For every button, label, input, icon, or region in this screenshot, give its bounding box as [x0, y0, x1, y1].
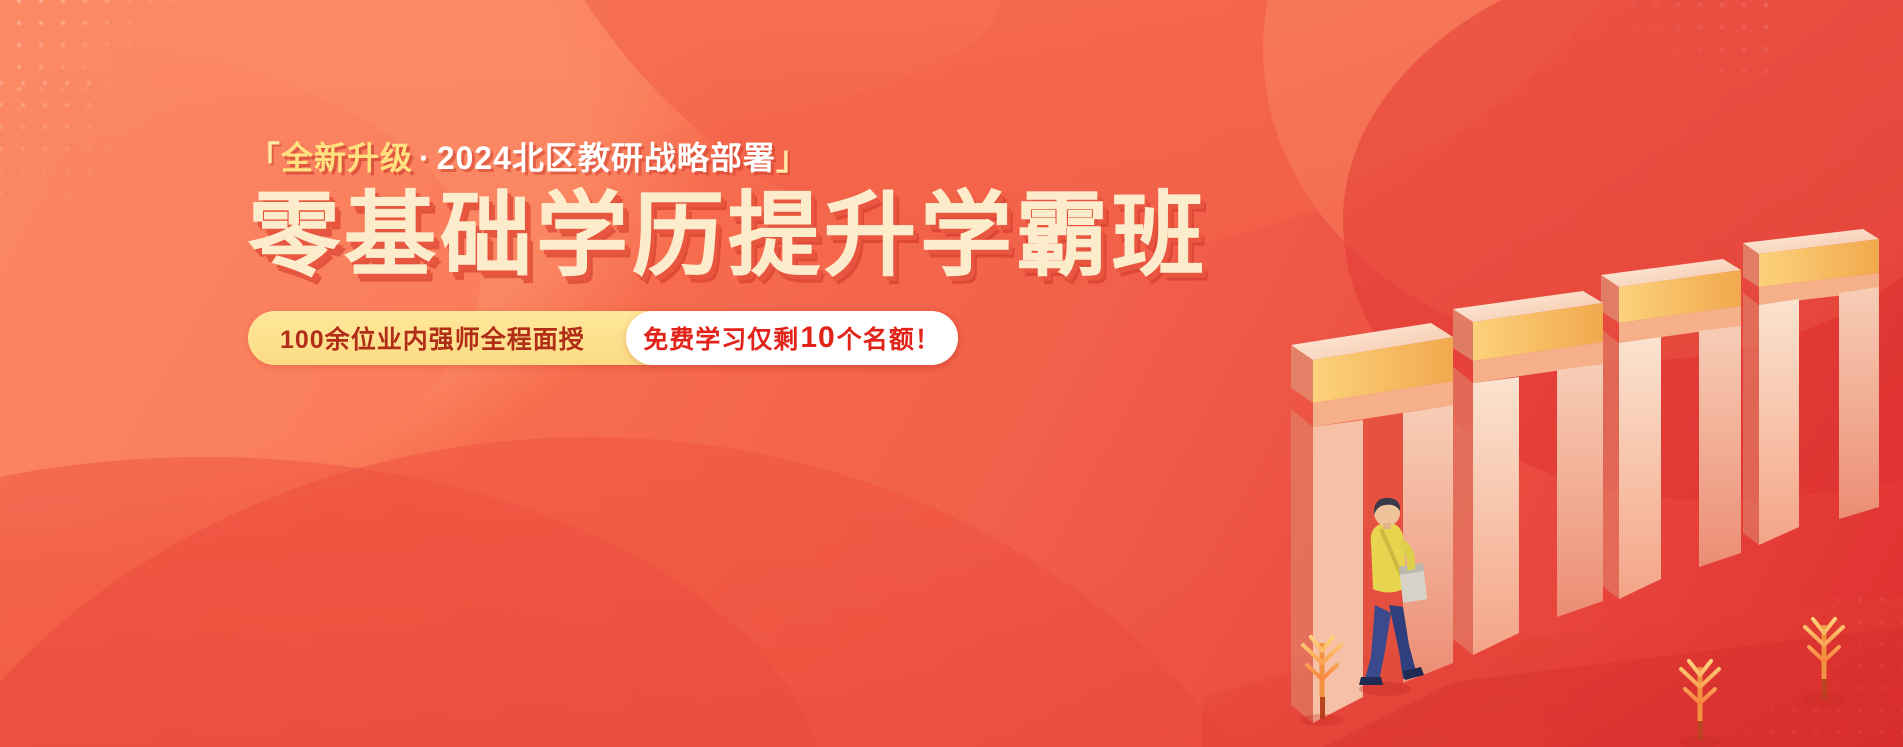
background-wave-swoop: [0, 0, 1000, 160]
banner-content: 「全新升级·2024北区教研战略部署」 零基础学历提升学霸班 100余位业内强师…: [248, 142, 1228, 365]
pill-right-label[interactable]: 免费学习仅剩10个名额！: [626, 311, 958, 365]
subtitle-white-text: 2024北区教研战略部署: [437, 140, 776, 176]
pill-right-prefix: 免费学习仅剩: [643, 320, 799, 356]
background-wave-bottom: [0, 437, 1340, 747]
pill-left-label: 100余位业内强师全程面授: [280, 311, 585, 365]
banner-pill-row: 100余位业内强师全程面授 免费学习仅剩10个名额！: [248, 311, 958, 365]
book-arch-2: [1453, 291, 1603, 655]
book-arch-4: [1743, 229, 1879, 545]
pill-right-suffix: 个名额！: [837, 320, 941, 356]
dot-pattern-top-left: [0, 0, 186, 110]
isometric-books-illustration: [1203, 227, 1903, 747]
subtitle-close-bracket: 」: [776, 140, 809, 176]
pill-right-count: 10: [799, 321, 836, 355]
background-wave-bottom-left: [0, 457, 830, 747]
dot-pattern-left: [0, 72, 110, 222]
banner-subtitle: 「全新升级·2024北区教研战略部署」: [248, 142, 1228, 174]
banner-headline: 零基础学历提升学霸班: [248, 188, 1228, 285]
subtitle-highlight-text: 全新升级: [281, 140, 413, 176]
promo-banner: 「全新升级·2024北区教研战略部署」 零基础学历提升学霸班 100余位业内强师…: [0, 0, 1903, 747]
subtitle-open-bracket: 「: [248, 140, 281, 176]
book-arch-3: [1601, 259, 1741, 599]
dot-pattern-top-right: [1623, 0, 1773, 84]
subtitle-separator-dot: ·: [413, 140, 437, 176]
